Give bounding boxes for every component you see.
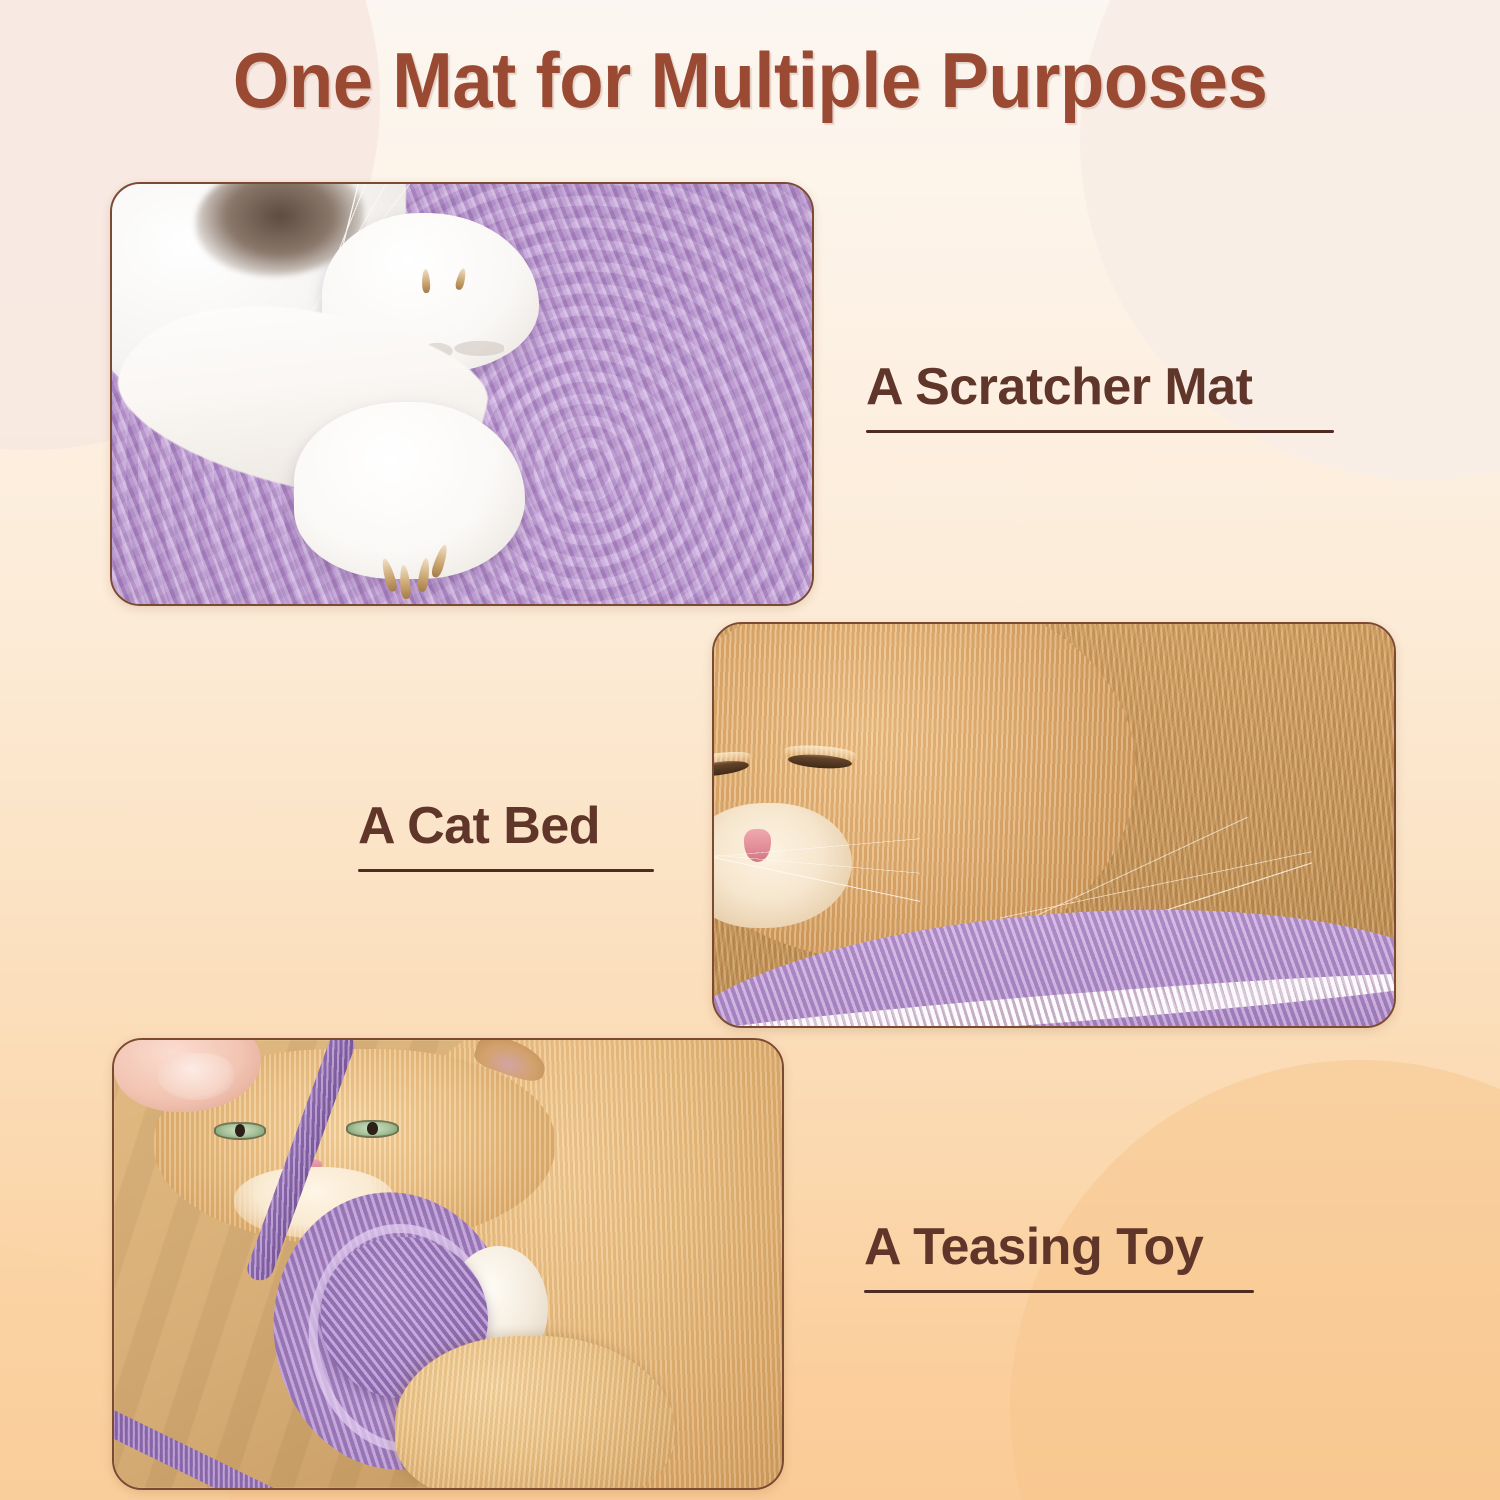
cat-claw — [399, 564, 412, 599]
page-title: One Mat for Multiple Purposes — [233, 38, 1267, 122]
feature-label-underline — [866, 430, 1334, 433]
feature-label-bed: A Cat Bed — [358, 797, 654, 872]
feature-label-scratcher-text: A Scratcher Mat — [866, 358, 1334, 416]
cat-claw — [454, 267, 467, 290]
photo-cat-bed — [712, 622, 1396, 1028]
cat-eye-left — [214, 1122, 266, 1140]
feature-label-scratcher: A Scratcher Mat — [866, 358, 1334, 433]
cat-whiskers-left — [714, 806, 920, 932]
photo-scratcher-mat — [110, 182, 814, 606]
feature-label-toy: A Teasing Toy — [864, 1218, 1254, 1293]
headline-container: One Mat for Multiple Purposes — [0, 38, 1500, 122]
feature-label-bed-text: A Cat Bed — [358, 797, 654, 855]
cat-eye-closed-right — [788, 752, 852, 769]
feature-label-underline — [864, 1290, 1254, 1293]
cat-eye-closed-left — [714, 758, 749, 778]
feature-label-toy-text: A Teasing Toy — [864, 1218, 1254, 1276]
cat-eye-right — [346, 1120, 398, 1138]
cat-paw-lower — [294, 402, 525, 578]
cat-claw — [421, 269, 430, 293]
photo-scratcher-mat-canvas — [112, 184, 812, 604]
photo-teasing-toy — [112, 1038, 784, 1490]
product-feature-poster: One Mat for Multiple Purposes A S — [0, 0, 1500, 1500]
photo-teasing-toy-canvas — [114, 1040, 782, 1488]
cat-claw — [430, 543, 450, 578]
feature-label-underline — [358, 869, 654, 872]
photo-cat-bed-canvas — [714, 624, 1394, 1026]
